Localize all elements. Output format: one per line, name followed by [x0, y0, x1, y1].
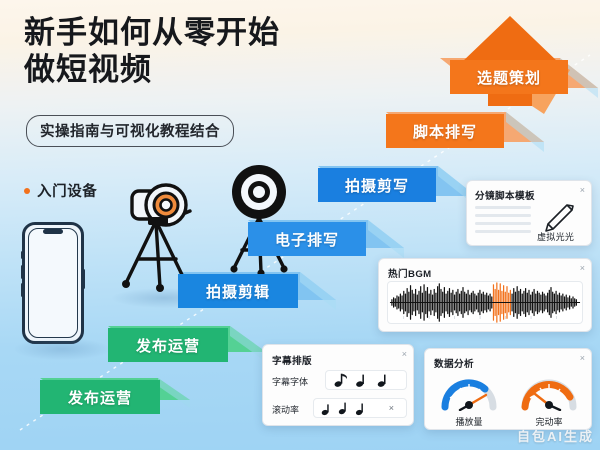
card-bgm-close-icon[interactable]: × — [580, 264, 585, 273]
step-4[interactable]: 电子排写 — [248, 222, 366, 256]
typography-row-1-control[interactable] — [325, 370, 407, 390]
gauge-plays: 播放量 — [435, 371, 503, 428]
card-typography-title: 字幕排版 — [272, 353, 312, 367]
card-hot-bgm[interactable]: 热门BGM × — [378, 258, 592, 332]
tripod-ringlight-icon — [214, 158, 304, 278]
phone-volume-up-button — [21, 265, 24, 279]
card-bgm-title: 热门BGM — [388, 266, 432, 280]
watermark: 自包AI生成 — [517, 426, 594, 445]
card-storyboard-template[interactable]: 分镜脚本模板 × 虚拟光光 — [466, 180, 592, 246]
phone-shadow — [14, 338, 110, 360]
phone-volume-down-button — [21, 283, 24, 297]
bullet-label: 入门设备 — [37, 180, 97, 201]
bullet-entry-level-equipment: 入门设备 — [24, 180, 97, 201]
typography-row-2-remove-icon[interactable]: × — [389, 403, 394, 413]
typography-row-1-label: 字幕字体 — [272, 375, 308, 388]
phone-power-button — [82, 269, 85, 289]
step-4-label: 电子排写 — [275, 229, 339, 250]
placeholder-line — [475, 206, 531, 209]
placeholder-line — [475, 230, 531, 233]
phone-screen — [28, 228, 78, 338]
step-6-label: 脚本排写 — [413, 121, 477, 142]
typography-row-2-label: 滚动率 — [272, 403, 299, 416]
smartphone-icon — [22, 222, 84, 344]
card-storyboard-close-icon[interactable]: × — [580, 186, 585, 195]
step-7-label: 选题策划 — [477, 67, 541, 88]
page-title: 新手如何从零开始 做短视频 — [24, 14, 280, 88]
step-1[interactable]: 发布运营 — [40, 380, 160, 414]
pencil-icon — [543, 203, 577, 233]
typography-row-2-control[interactable]: × — [313, 398, 407, 418]
card-storyboard-title: 分镜脚本模板 — [475, 188, 535, 202]
step-1-label: 发布运营 — [68, 387, 132, 408]
card-typography-close-icon[interactable]: × — [402, 350, 407, 359]
gauge-completion-dial — [518, 371, 580, 411]
placeholder-line — [475, 222, 531, 225]
step-3[interactable]: 拍摄剪辑 — [178, 274, 298, 308]
infographic-canvas: 新手如何从零开始 做短视频 实操指南与可视化教程结合 入门设备 — [0, 0, 600, 450]
gauge-plays-dial — [438, 371, 500, 411]
subtitle-pill: 实操指南与可视化教程结合 — [26, 115, 234, 147]
step-7[interactable]: 选题策划 — [450, 60, 568, 94]
bgm-waveform-axis — [388, 316, 582, 322]
step-6[interactable]: 脚本排写 — [386, 114, 504, 148]
music-notes-icon — [326, 371, 406, 389]
step-2[interactable]: 发布运营 — [108, 328, 228, 362]
card-subtitle-typography[interactable]: 字幕排版 × 字幕字体 滚动率 — [262, 344, 414, 426]
bullet-dot-icon — [24, 188, 30, 194]
placeholder-line — [475, 214, 531, 217]
phone-side-button — [21, 251, 24, 259]
card-storyboard-caption: 虚拟光光 — [537, 230, 574, 243]
step-5-label: 拍摄剪写 — [345, 175, 409, 196]
step-5[interactable]: 拍摄剪写 — [318, 168, 436, 202]
card-data-analytics[interactable]: 数据分析 × 播放量 — [424, 348, 592, 430]
step-2-label: 发布运营 — [136, 335, 200, 356]
gauge-plays-label: 播放量 — [435, 415, 503, 428]
step-3-label: 拍摄剪辑 — [206, 281, 270, 302]
gauge-completion: 完动率 — [515, 371, 583, 428]
card-analytics-close-icon[interactable]: × — [580, 354, 585, 363]
phone-notch-icon — [43, 229, 63, 234]
card-analytics-title: 数据分析 — [434, 356, 474, 370]
